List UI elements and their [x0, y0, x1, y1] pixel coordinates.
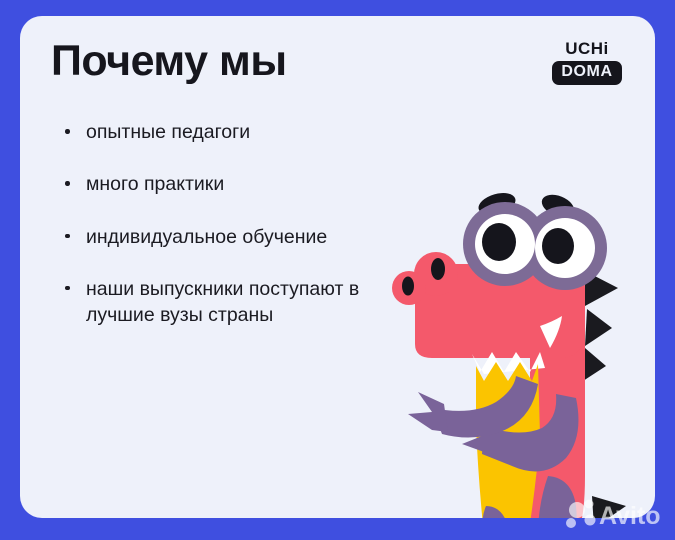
benefits-list: опытные педагоги много практики индивиду… — [60, 119, 370, 329]
dinosaur-nostril — [431, 258, 445, 280]
dinosaur-mascot-illustration — [380, 176, 655, 518]
list-item: много практики — [60, 171, 370, 197]
dinosaur-claw — [408, 392, 448, 432]
logo-wordmark-top: UCHi — [545, 40, 629, 58]
page-title: Почему мы — [51, 38, 287, 85]
dinosaur-tooth — [540, 316, 562, 348]
dinosaur-arm-right — [482, 394, 578, 471]
dinosaur-belly — [476, 362, 540, 518]
dinosaur-pupil — [542, 228, 574, 264]
dinosaur-leg — [482, 506, 510, 518]
dinosaur-glasses-ring — [523, 206, 607, 290]
list-item-label: опытные педагоги — [86, 121, 250, 143]
bullet-dot-icon — [65, 234, 70, 239]
dinosaur-head — [415, 264, 585, 358]
dinosaur-eyebrow — [538, 190, 577, 221]
dinosaur-glasses-ring — [463, 202, 547, 286]
dinosaur-pupil — [482, 223, 516, 261]
list-item: опытные педагоги — [60, 119, 370, 145]
dinosaur-eye-white — [475, 214, 535, 274]
dinosaur-eye-white — [535, 218, 595, 278]
list-item: индивидуальное обучение — [60, 224, 370, 250]
logo-wordmark-pill: DOMA — [552, 61, 621, 85]
list-item-label: много практики — [86, 173, 224, 195]
bullet-dot-icon — [65, 286, 70, 291]
dinosaur-snout-bump — [414, 252, 458, 296]
dinosaur-nostril — [402, 277, 414, 296]
dinosaur-arm-left — [432, 376, 538, 438]
bullet-dot-icon — [65, 181, 70, 186]
poster-canvas: UCHi DOMA Почему мы опытные педагоги мно… — [0, 0, 675, 540]
list-item: наши выпускники поступают в лучшие вузы … — [60, 276, 370, 329]
dinosaur-snout-bump — [392, 271, 426, 305]
list-item-label: наши выпускники поступают в лучшие вузы … — [86, 278, 359, 326]
dinosaur-spikes-icon — [583, 271, 626, 518]
dinosaur-claw — [462, 424, 484, 452]
list-item-label: индивидуальное обучение — [86, 226, 327, 248]
content-card: UCHi DOMA Почему мы опытные педагоги мно… — [20, 16, 655, 518]
bullet-dot-icon — [65, 129, 70, 134]
dinosaur-eyebrow — [476, 189, 518, 219]
dinosaur-body — [486, 326, 585, 518]
uchi-doma-logo[interactable]: UCHi DOMA — [545, 40, 629, 85]
dinosaur-leg — [538, 476, 577, 518]
dinosaur-collar — [472, 352, 545, 374]
